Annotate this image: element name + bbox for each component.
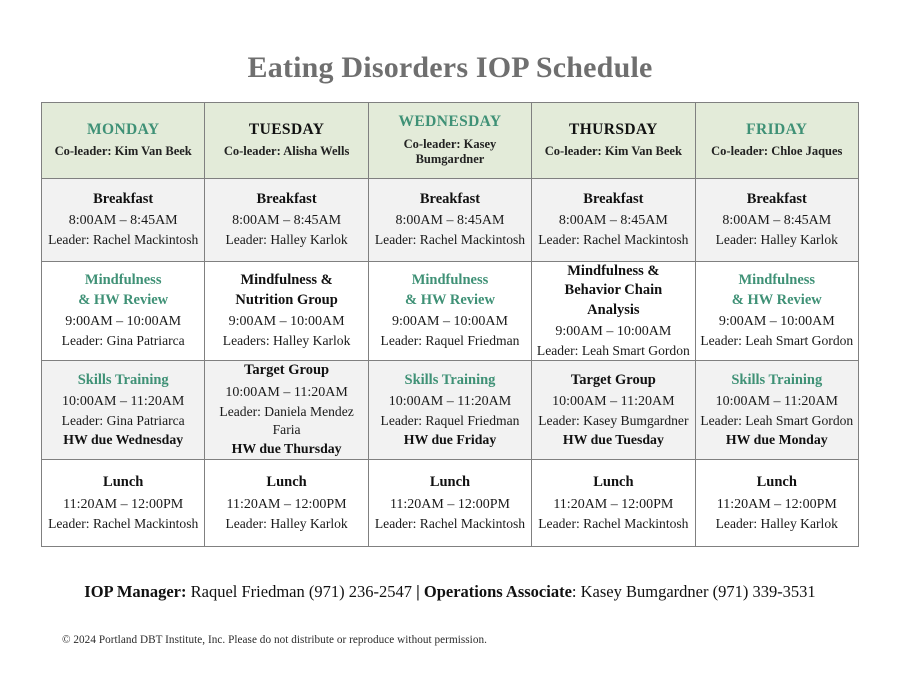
- homework-due-note: HW due Tuesday: [532, 431, 694, 450]
- activity-leader: Leader: Leah Smart Gordon: [696, 332, 858, 350]
- activity-time: 9:00AM – 10:00AM: [696, 312, 858, 332]
- activity-time: 10:00AM – 11:20AM: [696, 392, 858, 412]
- schedule-body: Breakfast8:00AM – 8:45AMLeader: Rachel M…: [42, 178, 859, 547]
- schedule-cell: Skills Training10:00AM – 11:20AMLeader: …: [368, 361, 531, 460]
- activity-leader: Leader: Halley Karlok: [696, 515, 858, 533]
- activity-leader: Leader: Rachel Mackintosh: [532, 515, 694, 533]
- schedule-cell: Mindfulness& HW Review9:00AM – 10:00AMLe…: [695, 261, 858, 361]
- activity-time: 10:00AM – 11:20AM: [42, 392, 204, 412]
- activity-leader: Leader: Rachel Mackintosh: [369, 515, 531, 533]
- activity-leader: Leader: Halley Karlok: [205, 231, 367, 249]
- schedule-cell: Lunch11:20AM – 12:00PMLeader: Halley Kar…: [205, 460, 368, 547]
- activity-title: Breakfast: [369, 190, 531, 210]
- contact-line: IOP Manager: Raquel Friedman (971) 236-2…: [0, 581, 900, 602]
- schedule-cell: Skills Training10:00AM – 11:20AMLeader: …: [695, 361, 858, 460]
- schedule-page: Eating Disorders IOP Schedule MONDAY Co-…: [0, 0, 900, 695]
- activity-time: 9:00AM – 10:00AM: [369, 312, 531, 332]
- activity-title: Skills Training: [696, 371, 858, 391]
- iop-manager-value: Raquel Friedman (971) 236-2547: [187, 582, 417, 601]
- schedule-cell: Breakfast8:00AM – 8:45AMLeader: Rachel M…: [532, 178, 695, 261]
- activity-time: 8:00AM – 8:45AM: [696, 211, 858, 231]
- schedule-cell: Breakfast8:00AM – 8:45AMLeader: Halley K…: [205, 178, 368, 261]
- activity-leader: Leader: Daniela Mendez Faria: [205, 403, 367, 440]
- homework-due-note: HW due Wednesday: [42, 431, 204, 450]
- contact-separator: |: [416, 582, 424, 601]
- table-row: Mindfulness& HW Review9:00AM – 10:00AMLe…: [42, 261, 859, 361]
- activity-time: 9:00AM – 10:00AM: [42, 312, 204, 332]
- coleader-label: Co-leader: Chloe Jaques: [700, 144, 854, 159]
- page-title: Eating Disorders IOP Schedule: [0, 0, 900, 84]
- activity-time: 8:00AM – 8:45AM: [369, 211, 531, 231]
- activity-time: 11:20AM – 12:00PM: [369, 495, 531, 515]
- activity-time: 11:20AM – 12:00PM: [532, 495, 694, 515]
- activity-leader: Leader: Rachel Mackintosh: [369, 231, 531, 249]
- activity-title: Breakfast: [42, 190, 204, 210]
- activity-title: Lunch: [696, 473, 858, 493]
- schedule-cell: Breakfast8:00AM – 8:45AMLeader: Rachel M…: [42, 178, 205, 261]
- activity-title: Skills Training: [369, 371, 531, 391]
- coleader-label: Co-leader: Kim Van Beek: [536, 144, 690, 159]
- activity-title: Breakfast: [696, 190, 858, 210]
- schedule-cell: Target Group10:00AM – 11:20AMLeader: Dan…: [205, 361, 368, 460]
- operations-associate-label: Operations Associate: [424, 582, 572, 601]
- activity-title: Target Group: [532, 371, 694, 391]
- column-header-thursday: THURSDAY Co-leader: Kim Van Beek: [532, 102, 695, 178]
- homework-due-note: HW due Monday: [696, 431, 858, 450]
- column-header-monday: MONDAY Co-leader: Kim Van Beek: [42, 102, 205, 178]
- schedule-cell: Breakfast8:00AM – 8:45AMLeader: Rachel M…: [368, 178, 531, 261]
- activity-time: 10:00AM – 11:20AM: [369, 392, 531, 412]
- activity-title: Skills Training: [42, 371, 204, 391]
- schedule-cell: Mindfulness& HW Review9:00AM – 10:00AMLe…: [368, 261, 531, 361]
- activity-leader: Leader: Leah Smart Gordon: [532, 342, 694, 360]
- activity-time: 11:20AM – 12:00PM: [42, 495, 204, 515]
- activity-time: 8:00AM – 8:45AM: [205, 211, 367, 231]
- table-header-row: MONDAY Co-leader: Kim Van Beek TUESDAY C…: [42, 102, 859, 178]
- activity-time: 8:00AM – 8:45AM: [532, 211, 694, 231]
- schedule-cell: Lunch11:20AM – 12:00PMLeader: Rachel Mac…: [368, 460, 531, 547]
- activity-leader: Leader: Rachel Mackintosh: [532, 231, 694, 249]
- day-label: FRIDAY: [700, 120, 854, 139]
- activity-time: 11:20AM – 12:00PM: [696, 495, 858, 515]
- copyright-notice: © 2024 Portland DBT Institute, Inc. Plea…: [62, 634, 487, 646]
- activity-leader: Leader: Halley Karlok: [696, 231, 858, 249]
- activity-leader: Leader: Halley Karlok: [205, 515, 367, 533]
- activity-title: Mindfulness& HW Review: [42, 271, 204, 310]
- activity-title: Lunch: [369, 473, 531, 493]
- activity-leader: Leader: Raquel Friedman: [369, 412, 531, 430]
- activity-leader: Leader: Gina Patriarca: [42, 412, 204, 430]
- column-header-friday: FRIDAY Co-leader: Chloe Jaques: [695, 102, 858, 178]
- day-label: TUESDAY: [209, 120, 363, 139]
- schedule-table-wrapper: MONDAY Co-leader: Kim Van Beek TUESDAY C…: [41, 102, 859, 548]
- operations-associate-value: : Kasey Bumgardner (971) 339-3531: [572, 582, 816, 601]
- activity-title: Lunch: [532, 473, 694, 493]
- activity-title: Target Group: [205, 361, 367, 381]
- column-header-wednesday: WEDNESDAY Co-leader: Kasey Bumgardner: [368, 102, 531, 178]
- activity-time: 11:20AM – 12:00PM: [205, 495, 367, 515]
- activity-time: 9:00AM – 10:00AM: [532, 322, 694, 342]
- activity-title: Lunch: [42, 473, 204, 493]
- activity-title: Mindfulness& HW Review: [696, 271, 858, 310]
- schedule-cell: Breakfast8:00AM – 8:45AMLeader: Halley K…: [695, 178, 858, 261]
- coleader-label: Co-leader: Kasey Bumgardner: [373, 137, 527, 167]
- schedule-cell: Mindfulness& HW Review9:00AM – 10:00AMLe…: [42, 261, 205, 361]
- activity-time: 8:00AM – 8:45AM: [42, 211, 204, 231]
- activity-leader: Leaders: Halley Karlok: [205, 332, 367, 350]
- activity-time: 9:00AM – 10:00AM: [205, 312, 367, 332]
- activity-time: 10:00AM – 11:20AM: [205, 383, 367, 403]
- schedule-cell: Skills Training10:00AM – 11:20AMLeader: …: [42, 361, 205, 460]
- column-header-tuesday: TUESDAY Co-leader: Alisha Wells: [205, 102, 368, 178]
- schedule-table: MONDAY Co-leader: Kim Van Beek TUESDAY C…: [41, 102, 859, 548]
- activity-time: 10:00AM – 11:20AM: [532, 392, 694, 412]
- activity-title: Lunch: [205, 473, 367, 493]
- activity-leader: Leader: Rachel Mackintosh: [42, 515, 204, 533]
- coleader-label: Co-leader: Kim Van Beek: [46, 144, 200, 159]
- activity-title: Mindfulness& HW Review: [369, 271, 531, 310]
- table-row: Breakfast8:00AM – 8:45AMLeader: Rachel M…: [42, 178, 859, 261]
- activity-leader: Leader: Rachel Mackintosh: [42, 231, 204, 249]
- day-label: WEDNESDAY: [373, 112, 527, 131]
- activity-leader: Leader: Gina Patriarca: [42, 332, 204, 350]
- coleader-label: Co-leader: Alisha Wells: [209, 144, 363, 159]
- activity-title: Breakfast: [205, 190, 367, 210]
- day-label: THURSDAY: [536, 120, 690, 139]
- activity-leader: Leader: Raquel Friedman: [369, 332, 531, 350]
- activity-leader: Leader: Leah Smart Gordon: [696, 412, 858, 430]
- schedule-cell: Lunch11:20AM – 12:00PMLeader: Rachel Mac…: [532, 460, 695, 547]
- schedule-cell: Mindfulness &Nutrition Group9:00AM – 10:…: [205, 261, 368, 361]
- homework-due-note: HW due Thursday: [205, 440, 367, 459]
- iop-manager-label: IOP Manager:: [84, 582, 186, 601]
- schedule-cell: Target Group10:00AM – 11:20AMLeader: Kas…: [532, 361, 695, 460]
- activity-title: Mindfulness &Behavior ChainAnalysis: [532, 262, 694, 321]
- activity-leader: Leader: Kasey Bumgardner: [532, 412, 694, 430]
- activity-title: Breakfast: [532, 190, 694, 210]
- homework-due-note: HW due Friday: [369, 431, 531, 450]
- schedule-cell: Lunch11:20AM – 12:00PMLeader: Rachel Mac…: [42, 460, 205, 547]
- activity-title: Mindfulness &Nutrition Group: [205, 271, 367, 310]
- day-label: MONDAY: [46, 120, 200, 139]
- table-row: Skills Training10:00AM – 11:20AMLeader: …: [42, 361, 859, 460]
- schedule-cell: Lunch11:20AM – 12:00PMLeader: Halley Kar…: [695, 460, 858, 547]
- schedule-cell: Mindfulness &Behavior ChainAnalysis9:00A…: [532, 261, 695, 361]
- table-row: Lunch11:20AM – 12:00PMLeader: Rachel Mac…: [42, 460, 859, 547]
